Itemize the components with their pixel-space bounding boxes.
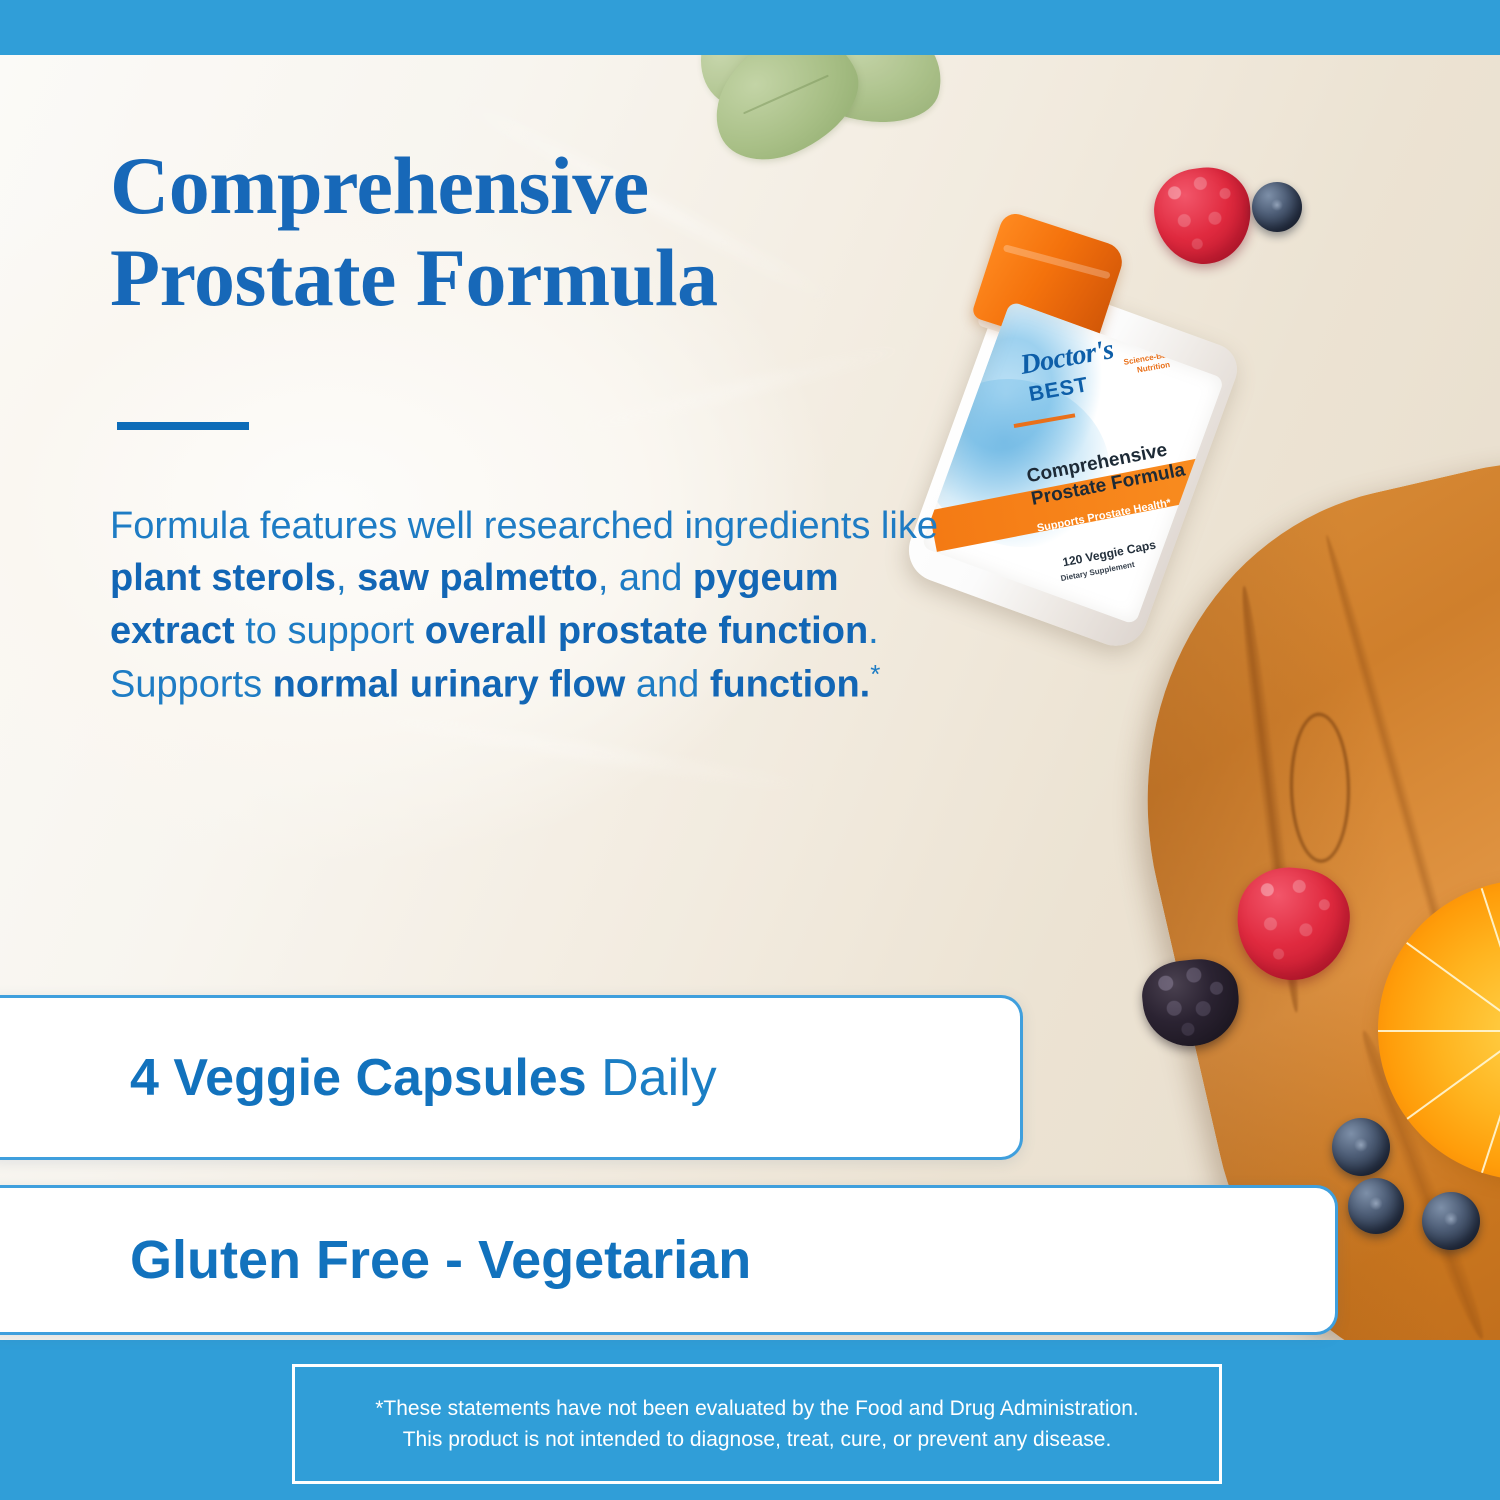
blueberry-board: [1348, 1178, 1404, 1234]
marble-vein: [332, 706, 828, 796]
disclaimer-line-1: *These statements have not been evaluate…: [375, 1397, 1138, 1420]
orange-segment: [1378, 1030, 1500, 1032]
orange-segment: [1406, 942, 1500, 1032]
body-copy-asterisk: *: [870, 659, 880, 689]
top-blue-band: [0, 0, 1500, 55]
blueberry-board: [1422, 1192, 1480, 1250]
body-copy-text: and: [625, 664, 710, 706]
callout-dosage-text: 4 Veggie Capsules Daily: [0, 1048, 717, 1108]
fda-disclaimer-box: *These statements have not been evaluate…: [292, 1364, 1222, 1484]
disclaimer-line-2: This product is not intended to diagnose…: [403, 1428, 1112, 1451]
body-copy-emphasis: overall prostate function: [425, 610, 868, 652]
callout-emphasis: 4 Veggie Capsules: [130, 1049, 587, 1107]
accent-rule: [117, 422, 249, 430]
body-copy: Formula features well researched ingredi…: [110, 500, 950, 711]
blueberry-board: [1332, 1118, 1390, 1176]
orange-segment: [1406, 1030, 1500, 1120]
leaf-vein: [743, 74, 829, 114]
body-copy-text: , and: [598, 557, 693, 599]
callout-dietary: Gluten Free - Vegetarian: [0, 1185, 1338, 1335]
callout-dosage: 4 Veggie Capsules Daily: [0, 995, 1023, 1160]
callout-emphasis: Gluten Free - Vegetarian: [130, 1230, 751, 1290]
cap-ridge: [1003, 244, 1111, 279]
page-title: Comprehensive Prostate Formula: [110, 140, 940, 324]
callout-dietary-text: Gluten Free - Vegetarian: [0, 1229, 751, 1291]
callout-regular: Daily: [587, 1049, 717, 1107]
body-copy-text: ,: [336, 557, 357, 599]
wood-knot: [1289, 712, 1352, 863]
body-copy-text: to support: [235, 610, 425, 652]
body-copy-emphasis: normal urinary flow: [273, 664, 626, 706]
body-copy-emphasis: saw palmetto: [357, 557, 598, 599]
blueberry-top: [1252, 182, 1302, 232]
body-copy-emphasis: function.: [710, 664, 870, 706]
body-copy-emphasis: plant sterols: [110, 557, 336, 599]
marketing-image-stage: Science-Based Nutrition Doctor's BEST Co…: [0, 0, 1500, 1500]
headline-line-1: Comprehensive: [110, 140, 649, 231]
headline-line-2: Prostate Formula: [110, 232, 718, 323]
label-brand-doctors: Doctor's: [1018, 334, 1116, 382]
marble-vein: [564, 342, 915, 437]
body-copy-text: Formula features well researched ingredi…: [110, 505, 938, 547]
